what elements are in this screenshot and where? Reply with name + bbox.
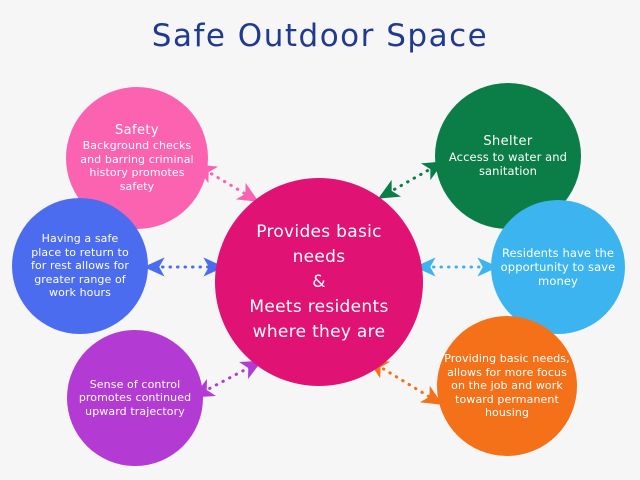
node-shelter-heading: Shelter [483,134,532,149]
diagram-canvas: Safe Outdoor Space [0,0,640,480]
node-focus-text: Providing basic needs, allows for more f… [437,352,577,420]
connector-safety-center [205,170,249,196]
connector-control-center [203,366,252,392]
node-center-text: Provides basic needs & Meets residents w… [215,220,423,345]
node-focus[interactable]: Providing basic needs, allows for more f… [437,316,577,456]
node-rest-text: Having a safe place to return to for res… [12,232,148,300]
node-center-concept[interactable]: Provides basic needs & Meets residents w… [215,178,423,386]
connector-center-focus [377,365,433,399]
node-safety-text: Background checks and barring criminal h… [66,139,208,193]
node-savings[interactable]: Residents have the opportunity to save m… [491,200,625,334]
node-control[interactable]: Sense of control promotes continued upwa… [67,330,203,466]
node-rest[interactable]: Having a safe place to return to for res… [12,198,148,334]
node-safety-heading: Safety [115,123,159,138]
connector-center-shelter [388,167,434,193]
node-savings-text: Residents have the opportunity to save m… [491,246,625,288]
node-shelter-text: Access to water and sanitation [435,150,581,178]
node-control-text: Sense of control promotes continued upwa… [67,378,203,419]
